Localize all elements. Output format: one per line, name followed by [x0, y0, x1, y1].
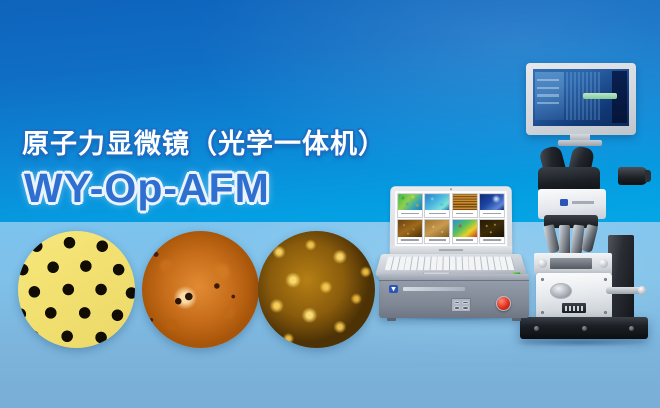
monitor-bezel: [526, 63, 636, 135]
controller-unit: [379, 274, 529, 318]
power-button[interactable]: [496, 296, 511, 311]
monitor-foot: [558, 140, 602, 146]
monitor-screen: [533, 69, 629, 126]
head-nameplate: [562, 303, 586, 313]
scan-thumbnail: [452, 193, 478, 218]
adjustment-dial[interactable]: [550, 283, 572, 299]
afm-scan-image-cells: [142, 231, 259, 348]
sample-slot: [550, 258, 592, 269]
scan-thumbnail: [479, 219, 505, 244]
ui-highlight-bar: [583, 93, 618, 99]
sample-stage[interactable]: [534, 253, 612, 275]
laptop-lid: [390, 186, 513, 254]
webcam-icon: [450, 188, 452, 190]
scan-thumbnail: [424, 219, 450, 244]
objective-lenses: [546, 225, 596, 255]
afm-scanner-head: [536, 273, 612, 319]
stage-knob-right[interactable]: [599, 259, 608, 268]
afm-scan-image-grains: [258, 231, 375, 348]
brand-logo-icon: [560, 199, 568, 206]
product-headline: 原子力显微镜（光学一体机）: [22, 122, 386, 161]
camera-port: [618, 167, 648, 185]
afm-workstation: [378, 186, 530, 318]
afm-scan-image-dots: [18, 231, 135, 348]
scan-thumbnail: [452, 219, 478, 244]
product-banner: 原子力显微镜（光学一体机） WY-Op-AFM: [0, 0, 660, 408]
scan-thumbnail: [424, 193, 450, 218]
scan-thumbnail: [397, 193, 423, 218]
controller-top-panel: [379, 274, 529, 281]
product-model-number: WY-Op-AFM: [24, 165, 270, 212]
controller-foot: [387, 318, 396, 321]
laptop-brand-strip: [390, 246, 513, 254]
vibration-isolation-base: [520, 317, 648, 339]
controller-brand-text: [403, 287, 465, 291]
controller-port-panel[interactable]: [451, 298, 471, 312]
keyboard-keys[interactable]: [385, 257, 516, 270]
scan-thumbnail: [479, 193, 505, 218]
stage-knob-left[interactable]: [538, 259, 547, 268]
brand-logo-icon: [389, 285, 398, 293]
scan-thumbnail: [397, 219, 423, 244]
microscope-brand-text: [572, 201, 594, 204]
laptop-screen: [395, 191, 507, 246]
controller-foot: [512, 318, 521, 321]
focus-adjustment-slider[interactable]: [606, 287, 642, 294]
ui-left-pane: [535, 72, 564, 120]
